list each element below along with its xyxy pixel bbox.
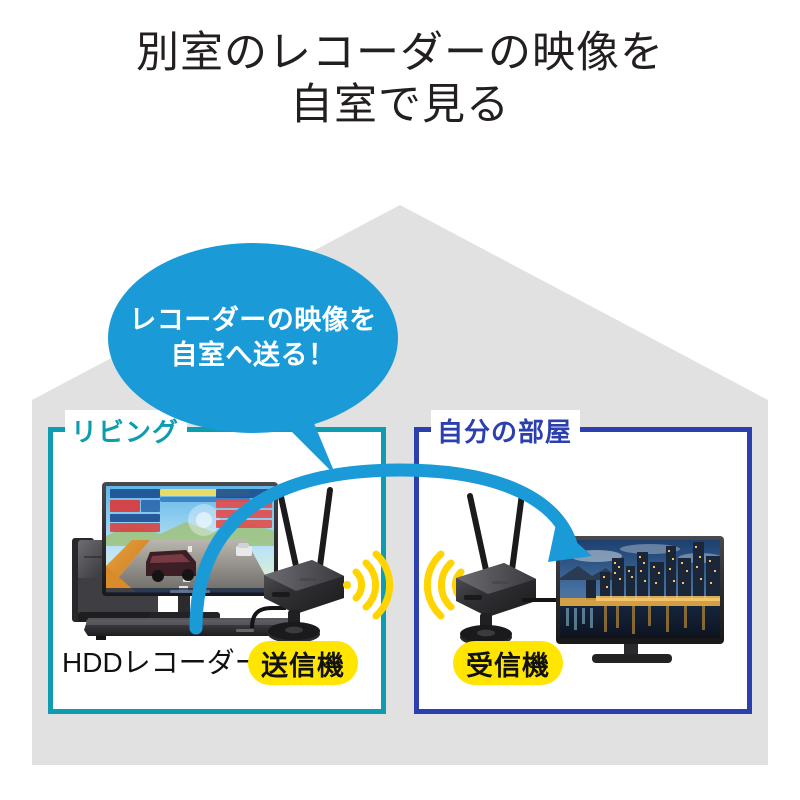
- page-title: 別室のレコーダーの映像を 自室で見る: [0, 28, 800, 133]
- speech-bubble: レコーダーの映像を 自室へ送る！: [108, 243, 398, 433]
- transmitter-badge: 送信機: [248, 641, 358, 685]
- hdd-recorder-label: HDDレコーダー: [62, 641, 263, 681]
- speech-bubble-text: レコーダーの映像を 自室へ送る！: [108, 243, 398, 433]
- receiver-badge: 受信機: [453, 641, 563, 685]
- room-label-own-room: 自分の部屋: [431, 410, 580, 454]
- illustration-canvas: 別室のレコーダーの映像を 自室で見る リビング 自分の部屋: [0, 0, 800, 800]
